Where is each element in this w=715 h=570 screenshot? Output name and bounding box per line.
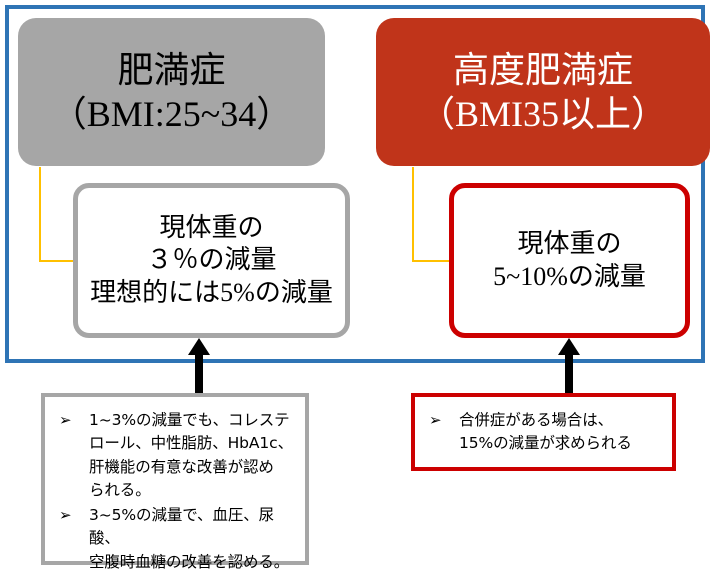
bullet-text: 3~5%の減量で、血圧、尿酸、 空腹時血糖の改善を認める。 [89, 504, 297, 570]
target-box-obesity: 現体重の ３％の減量 理想的には5%の減量 [73, 183, 350, 338]
bullet-line: 1~3%の減量でも、コレステ [89, 409, 297, 432]
diagram-canvas: 肥満症 （BMI:25~34） 現体重の ３％の減量 理想的には5%の減量 ➢ … [0, 0, 715, 570]
bullet-arrow-icon: ➢ [55, 409, 89, 432]
target-box-severe-obesity: 現体重の 5~10%の減量 [449, 183, 690, 338]
target-line-2-severe-obesity: 5~10%の減量 [493, 261, 646, 294]
list-item: ➢ 1~3%の減量でも、コレステ ロール、中性脂肪、HbA1c、 肝機能の有意な… [55, 409, 297, 502]
target-line-2-obesity: ３％の減量 [146, 244, 276, 277]
bullet-text: 1~3%の減量でも、コレステ ロール、中性脂肪、HbA1c、 肝機能の有意な改善… [89, 409, 297, 502]
category-title-severe-obesity: 高度肥満症 [453, 50, 633, 90]
bullet-line: 合併症がある場合は、 [459, 409, 664, 432]
up-arrow-icon-obesity [187, 338, 211, 394]
bullet-line: 3~5%の減量で、血圧、尿酸、 [89, 504, 297, 551]
bullet-line: 15%の減量が求められる [459, 432, 664, 455]
target-line-3-obesity: 理想的には5%の減量 [90, 277, 333, 310]
list-item: ➢ 3~5%の減量で、血圧、尿酸、 空腹時血糖の改善を認める。 [55, 504, 297, 570]
up-arrow-icon-severe-obesity [557, 338, 581, 394]
evidence-box-obesity: ➢ 1~3%の減量でも、コレステ ロール、中性脂肪、HbA1c、 肝機能の有意な… [41, 393, 309, 565]
bullet-line: 空腹時血糖の改善を認める。 [89, 551, 297, 570]
connector-elbow-obesity [39, 167, 75, 262]
connector-elbow-severe-obesity [412, 167, 450, 262]
list-item: ➢ 合併症がある場合は、 15%の減量が求められる [425, 409, 664, 456]
category-box-obesity: 肥満症 （BMI:25~34） [18, 18, 325, 166]
bullet-line: 肝機能の有意な改善が認め [89, 456, 297, 479]
category-title-obesity: 肥満症 [117, 50, 225, 90]
category-bmi-range-obesity: （BMI:25~34） [51, 94, 293, 134]
target-line-1-severe-obesity: 現体重の [517, 228, 621, 261]
bullet-arrow-icon: ➢ [55, 504, 89, 527]
category-box-severe-obesity: 高度肥満症 （BMI35以上） [376, 18, 710, 166]
bullet-text: 合併症がある場合は、 15%の減量が求められる [459, 409, 664, 456]
target-line-1-obesity: 現体重の [159, 212, 263, 245]
evidence-box-severe-obesity: ➢ 合併症がある場合は、 15%の減量が求められる [411, 393, 676, 471]
bullet-line: ロール、中性脂肪、HbA1c、 [89, 432, 297, 455]
category-bmi-range-severe-obesity: （BMI35以上） [419, 94, 667, 134]
bullet-line: られる。 [89, 479, 297, 502]
bullet-arrow-icon: ➢ [425, 409, 459, 432]
